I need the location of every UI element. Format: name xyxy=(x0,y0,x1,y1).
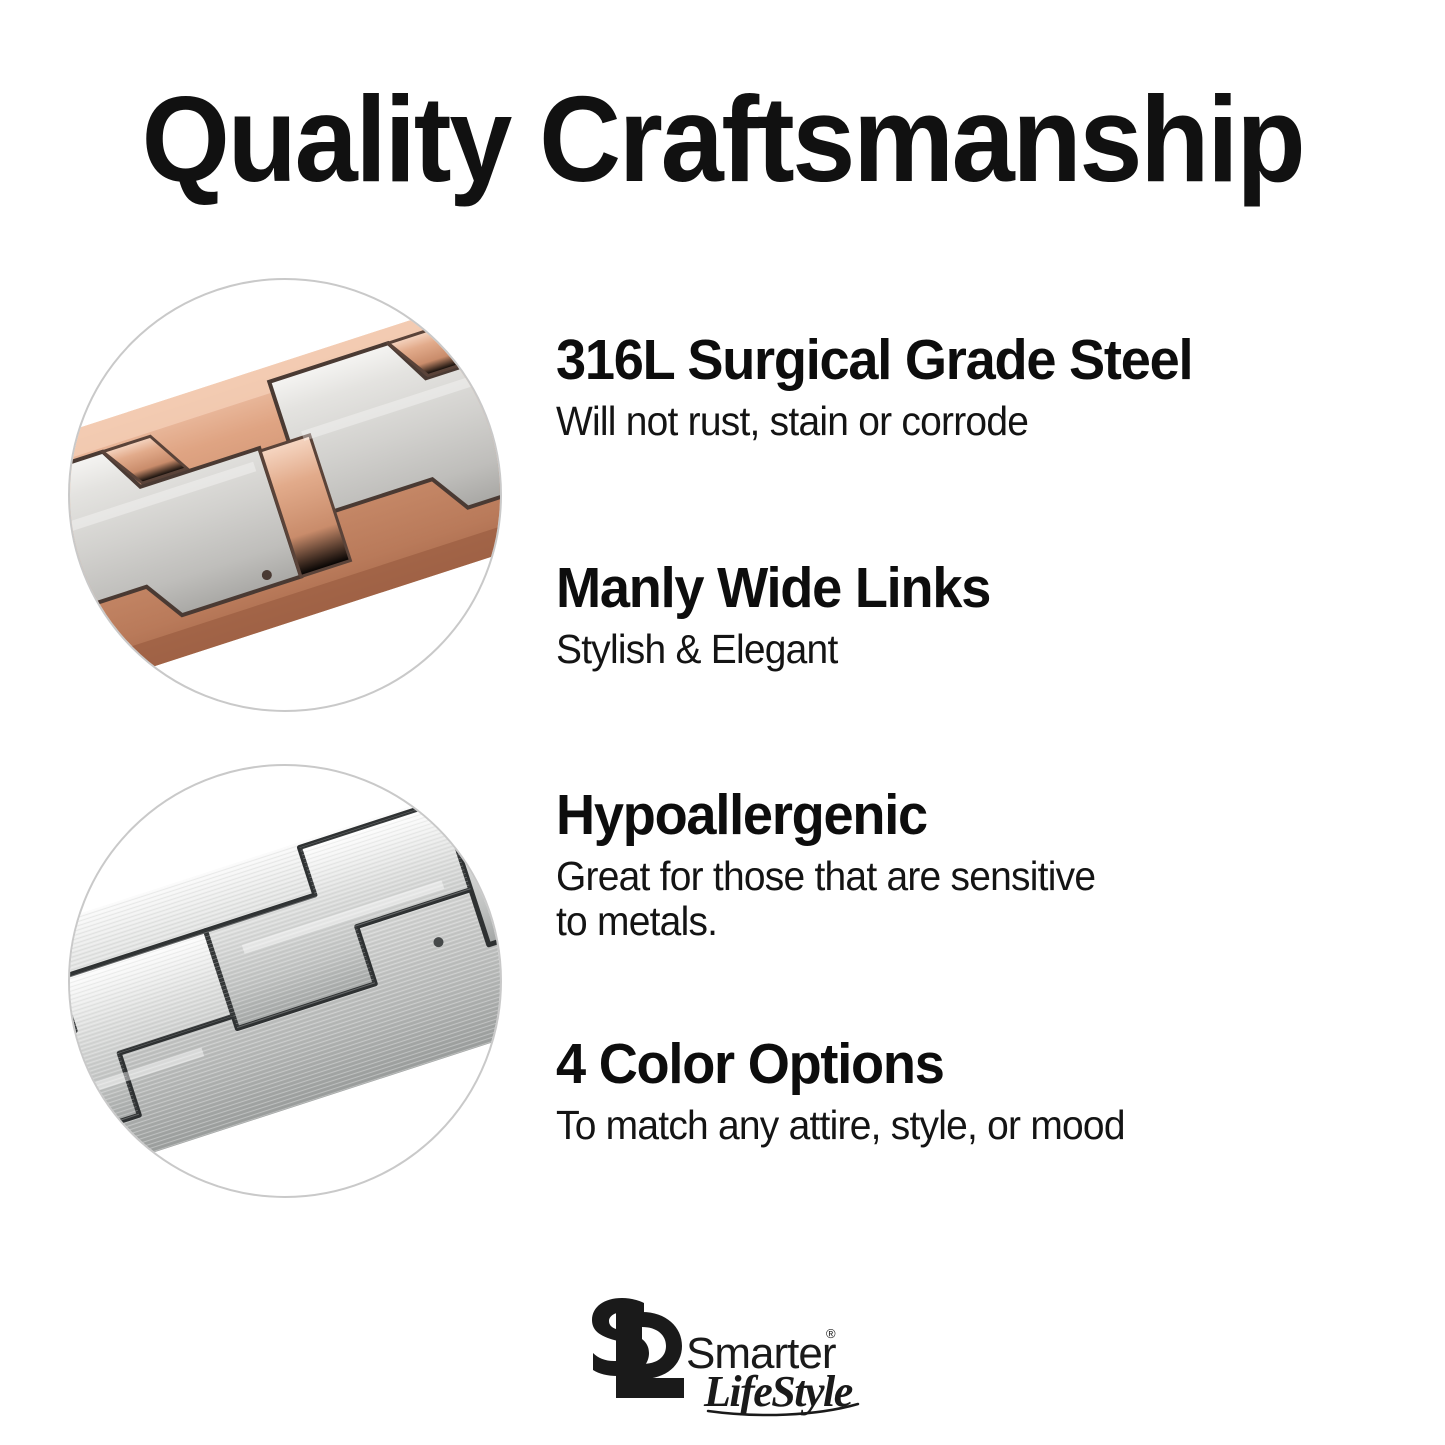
feature-heading: 316L Surgical Grade Steel xyxy=(556,330,1192,392)
feature-subtitle: To match any attire, style, or mood xyxy=(556,1103,1125,1149)
feature-subtitle-line-1: To match any attire, style, or mood xyxy=(556,1102,1125,1148)
feature-subtitle-line-1: Will not rust, stain or corrode xyxy=(556,398,1028,444)
feature-subtitle: Great for those that are sensitive to me… xyxy=(556,854,1095,946)
feature-subtitle: Will not rust, stain or corrode xyxy=(556,399,1192,445)
feature-item-hypoallergenic: Hypoallergenic Great for those that are … xyxy=(556,785,1124,945)
page-title: Quality Craftsmanship xyxy=(51,78,1395,200)
sl-monogram-icon xyxy=(592,1298,684,1398)
photo-inner-rose-gold xyxy=(68,278,502,712)
product-photo-steel-links xyxy=(68,764,502,1198)
feature-subtitle: Stylish & Elegant xyxy=(556,627,990,673)
bracelet-graphic-rose-gold xyxy=(68,278,502,712)
feature-subtitle-line-2: to metals. xyxy=(556,899,1095,945)
feature-subtitle-line-1: Stylish & Elegant xyxy=(556,626,838,672)
feature-heading: Manly Wide Links xyxy=(556,558,990,620)
feature-heading: 4 Color Options xyxy=(556,1034,1125,1096)
infographic-page: Quality Craftsmanship xyxy=(0,0,1445,1445)
feature-subtitle-line-1: Great for those that are sensitive xyxy=(556,853,1095,899)
feature-item-links: Manly Wide Links Stylish & Elegant xyxy=(556,558,1013,672)
brand-logo: Smarter ® LifeStyle xyxy=(558,1282,888,1422)
smarter-lifestyle-logo-svg: Smarter ® LifeStyle xyxy=(558,1282,888,1422)
photo-inner-steel xyxy=(68,764,502,1198)
logo-script: LifeStyle xyxy=(703,1367,853,1416)
logo-trademark-symbol: ® xyxy=(826,1326,836,1341)
product-photo-rose-gold-links xyxy=(68,278,502,712)
bracelet-graphic-steel xyxy=(68,764,502,1198)
feature-item-colors: 4 Color Options To match any attire, sty… xyxy=(556,1034,1155,1148)
feature-heading: Hypoallergenic xyxy=(556,785,1095,847)
feature-item-steel: 316L Surgical Grade Steel Will not rust,… xyxy=(556,330,1226,444)
